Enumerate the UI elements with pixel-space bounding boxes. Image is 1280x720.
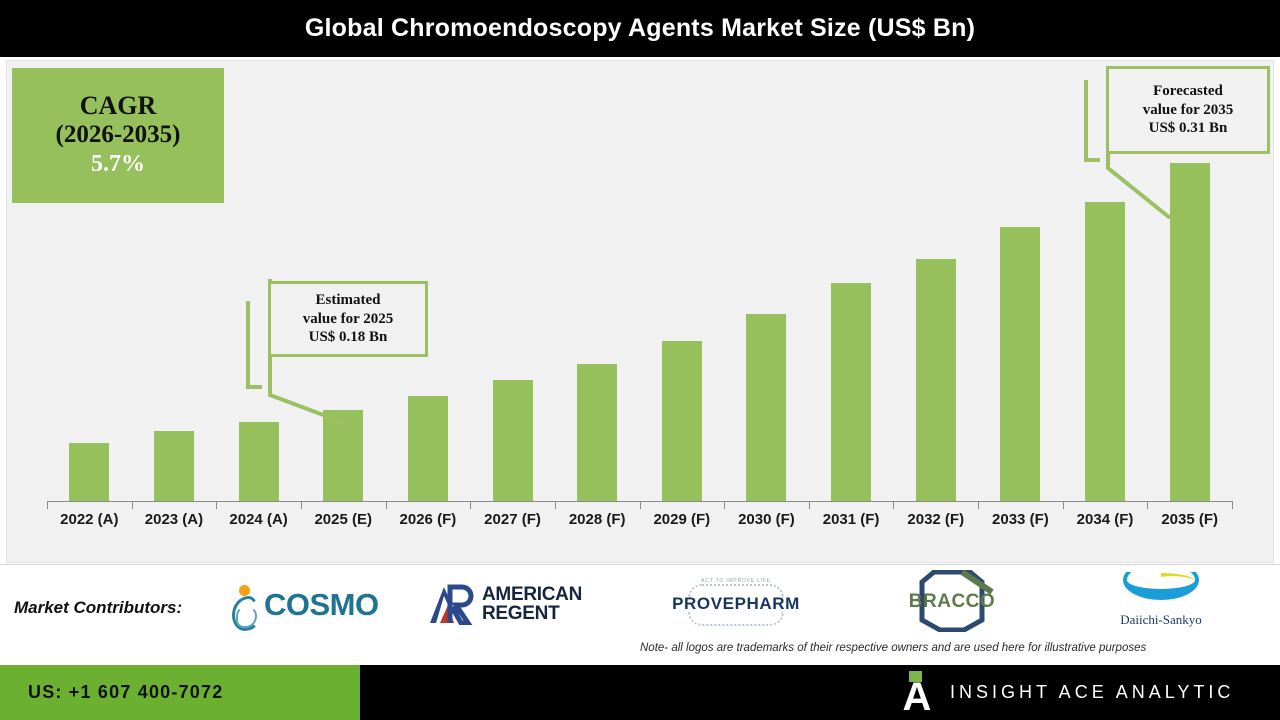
bar-2029: [662, 341, 702, 502]
x-axis-tick: [1232, 501, 1233, 509]
x-axis-tick: [216, 501, 217, 509]
daiichi-sankyo-logo: Daiichi-Sankyo: [1115, 572, 1207, 632]
american-regent-logo: AMERICAN REGENT: [428, 583, 582, 625]
x-axis-label: 2025 (E): [301, 511, 386, 528]
x-axis-tick: [809, 501, 810, 509]
x-axis-labels: 2022 (A)2023 (A)2024 (A)2025 (E)2026 (F)…: [47, 511, 1232, 539]
x-axis-tick: [555, 501, 556, 509]
bar-2032: [916, 259, 956, 502]
cosmo-logo: COSMO: [228, 585, 379, 625]
x-axis-label: 2026 (F): [385, 511, 470, 528]
american-regent-line1: AMERICAN: [482, 585, 582, 604]
x-axis-label: 2033 (F): [978, 511, 1063, 528]
x-axis-label: 2035 (F): [1147, 511, 1232, 528]
bar-2024: [239, 422, 279, 502]
x-axis-tick: [132, 501, 133, 509]
bracco-logo: BRACCO: [900, 570, 1004, 632]
forecasted-callout-line1: Forecasted: [1153, 82, 1223, 101]
x-axis-label: 2030 (F): [724, 511, 809, 528]
x-axis-tick: [1063, 501, 1064, 509]
estimated-callout-line2: value for 2025: [303, 310, 394, 329]
x-axis-tick: [301, 501, 302, 509]
estimated-callout-line1: Estimated: [316, 291, 381, 310]
provepharm-arc-bottom-icon: [688, 612, 784, 626]
x-axis-label: 2031 (F): [809, 511, 894, 528]
x-axis-label: 2023 (A): [131, 511, 216, 528]
x-axis-tick: [47, 501, 48, 509]
x-axis-label: 2022 (A): [47, 511, 132, 528]
provepharm-logo-text: PROVEPHARM: [672, 594, 800, 614]
american-regent-line2: REGENT: [482, 604, 582, 623]
infographic-page: Global Chromoendoscopy Agents Market Siz…: [0, 0, 1280, 720]
x-axis-tick: [724, 501, 725, 509]
x-axis-label: 2029 (F): [639, 511, 724, 528]
estimated-value-callout: Estimated value for 2025 US$ 0.18 Bn: [268, 281, 428, 357]
x-axis-tick: [1147, 501, 1148, 509]
insight-ace-logo-icon: A: [900, 671, 934, 715]
bar-chart-plot-area: [47, 60, 1232, 502]
x-axis-tick: [893, 501, 894, 509]
daiichi-sankyo-logo-text: Daiichi-Sankyo: [1120, 612, 1202, 628]
american-regent-mark-icon: [428, 583, 476, 625]
phone-block: US: +1 607 400-7072: [0, 665, 360, 720]
forecasted-value-callout: Forecasted value for 2035 US$ 0.31 Bn: [1106, 66, 1270, 154]
brand-block: A INSIGHT ACE ANALYTIC: [900, 665, 1234, 720]
daiichi-sankyo-mark-icon: [1121, 572, 1201, 610]
bar-2026: [408, 396, 448, 502]
forecasted-callout-line3: US$ 0.31 Bn: [1149, 119, 1228, 138]
x-axis-label: 2034 (F): [1063, 511, 1148, 528]
brand-letter: A: [900, 682, 934, 715]
bar-2034: [1085, 202, 1125, 502]
x-axis-label: 2027 (F): [470, 511, 555, 528]
x-axis-tick: [386, 501, 387, 509]
x-axis-tick: [470, 501, 471, 509]
cosmo-logo-text: COSMO: [264, 587, 379, 623]
page-title: Global Chromoendoscopy Agents Market Siz…: [0, 0, 1280, 57]
forecasted-callout-line2: value for 2035: [1143, 101, 1234, 120]
x-axis-label: 2028 (F): [555, 511, 640, 528]
phone-number: US: +1 607 400-7072: [28, 682, 223, 703]
bar-2022: [69, 443, 109, 502]
bar-2027: [493, 380, 533, 502]
trademark-note: Note- all logos are trademarks of their …: [640, 642, 1276, 654]
estimated-callout-line3: US$ 0.18 Bn: [309, 328, 388, 347]
x-axis-label: 2024 (A): [216, 511, 301, 528]
market-contributors-label: Market Contributors:: [14, 598, 182, 618]
bar-2033: [1000, 227, 1040, 502]
bracco-logo-text: BRACCO: [900, 591, 1004, 613]
bar-2028: [577, 364, 617, 502]
title-bar: Global Chromoendoscopy Agents Market Siz…: [0, 0, 1280, 57]
cosmo-mark-icon: [228, 585, 260, 625]
x-axis-label: 2032 (F): [893, 511, 978, 528]
bar-2023: [154, 431, 194, 502]
brand-name: INSIGHT ACE ANALYTIC: [950, 682, 1234, 703]
bar-2030: [746, 314, 786, 502]
x-axis-tick: [640, 501, 641, 509]
provepharm-logo: ACT TO IMPROVE LIFE PROVEPHARM: [676, 578, 796, 630]
x-axis-tick: [978, 501, 979, 509]
bar-2031: [831, 283, 871, 502]
